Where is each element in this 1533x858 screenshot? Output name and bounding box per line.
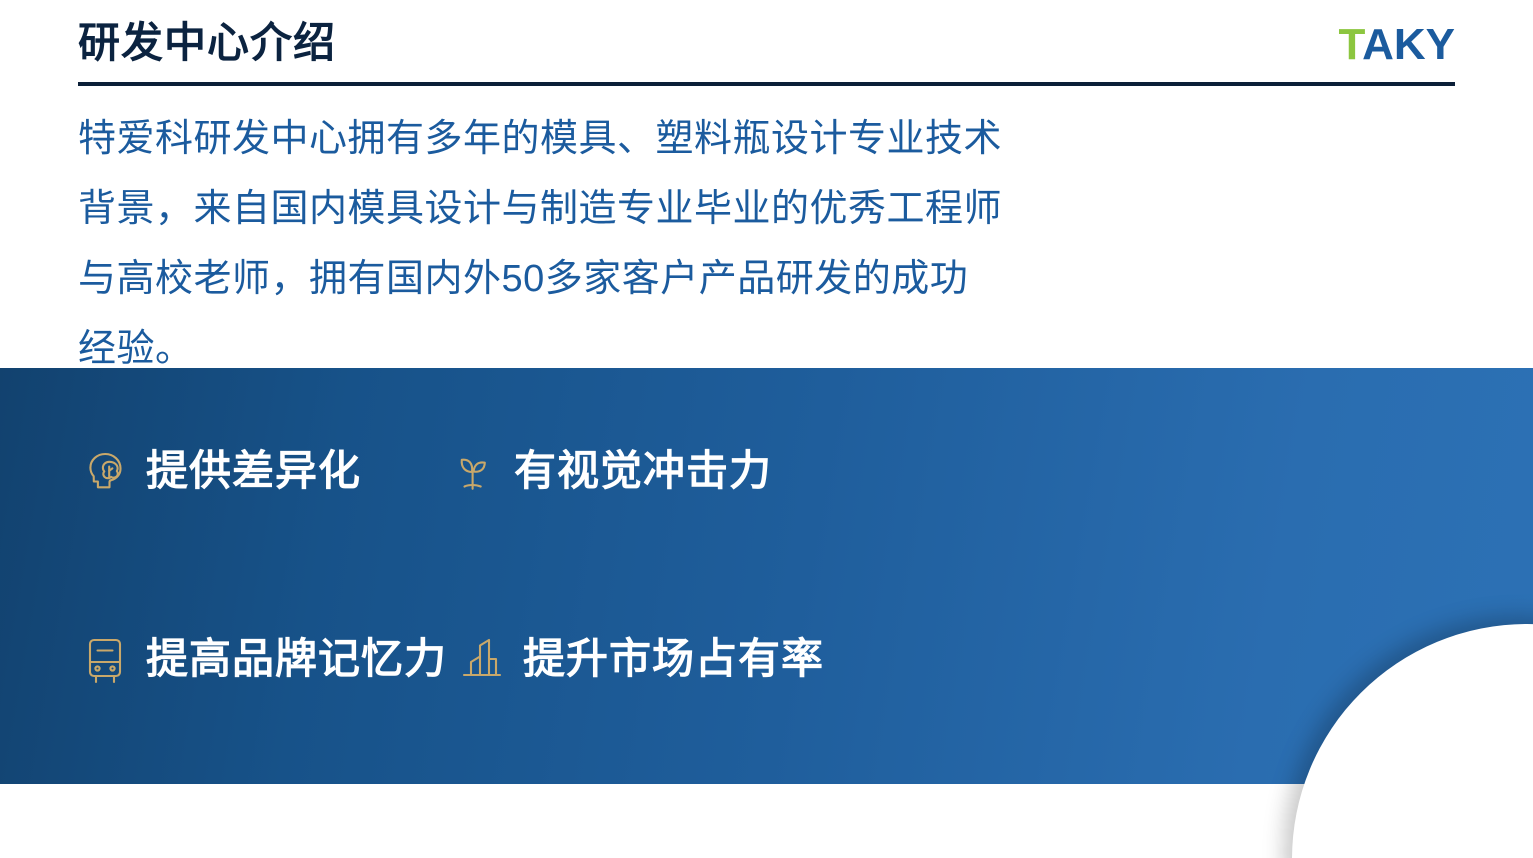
feature-label: 提供差异化 xyxy=(146,443,361,499)
feature-item-differentiation[interactable]: 提供差异化 xyxy=(78,438,361,504)
head-brain-icon xyxy=(78,444,132,498)
slide-canvas: 研发中心介绍 TAKY 特爱科研发中心拥有多年的模具、塑料瓶设计专业技术 背景，… xyxy=(0,0,1533,858)
intro-line: 与高校老师，拥有国内外50多家客户产品研发的成功 xyxy=(78,244,1078,314)
bus-icon xyxy=(78,632,132,686)
feature-band xyxy=(0,368,1533,784)
page-title: 研发中心介绍 xyxy=(78,14,336,72)
feature-label: 提高品牌记忆力 xyxy=(146,631,447,687)
feature-item-visual-impact[interactable]: 有视觉冲击力 xyxy=(446,438,772,504)
brand-logo: TAKY xyxy=(1338,18,1455,72)
intro-line: 特爱科研发中心拥有多年的模具、塑料瓶设计专业技术 xyxy=(78,104,1078,174)
slide-header: 研发中心介绍 TAKY xyxy=(78,14,1455,84)
intro-paragraph: 特爱科研发中心拥有多年的模具、塑料瓶设计专业技术 背景，来自国内模具设计与制造专… xyxy=(78,104,1078,384)
feature-item-brand-memory[interactable]: 提高品牌记忆力 xyxy=(78,626,447,692)
building-icon xyxy=(455,632,509,686)
feature-label: 提升市场占有率 xyxy=(523,631,824,687)
feature-label: 有视觉冲击力 xyxy=(514,443,772,499)
brand-logo-text: AKY xyxy=(1362,20,1455,69)
feature-item-market-share[interactable]: 提升市场占有率 xyxy=(455,626,824,692)
intro-line: 背景，来自国内模具设计与制造专业毕业的优秀工程师 xyxy=(78,174,1078,244)
header-divider xyxy=(78,82,1455,86)
sprout-icon xyxy=(446,444,500,498)
brand-logo-accent: T xyxy=(1338,20,1362,69)
